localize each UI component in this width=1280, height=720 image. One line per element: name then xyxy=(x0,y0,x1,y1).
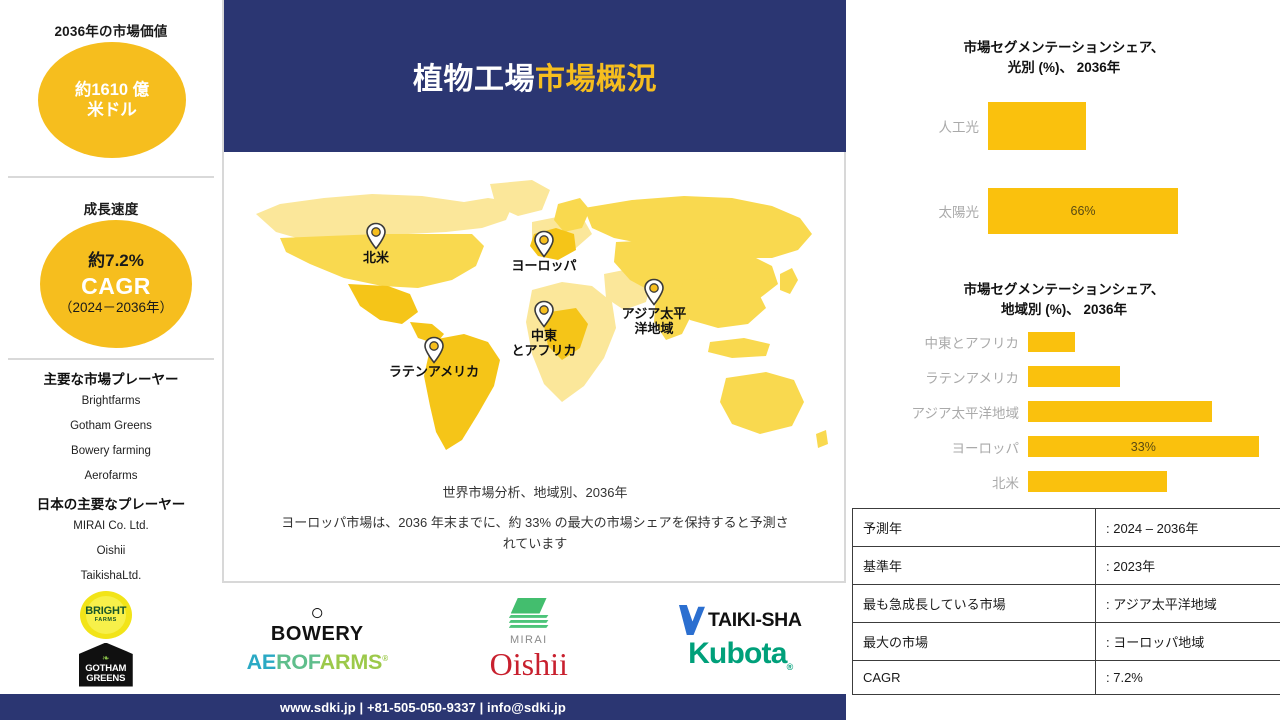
growth-rate-period: （2024－2036年） xyxy=(59,300,173,316)
table-value: : 7.2% xyxy=(1096,661,1280,695)
market-value-line2: 米ドル xyxy=(87,100,137,120)
map-panel: 北米 ラテンアメリカ ヨーロッパ 中東 とアフリカ xyxy=(224,152,846,583)
aerofarms-part1: AE xyxy=(247,650,276,674)
market-value-line1: 約1610 億 xyxy=(75,80,149,100)
bar-row-middle-east-africa[interactable]: 中東とアフリカ xyxy=(854,332,1276,352)
page-title-primary: 植物工場 xyxy=(413,63,535,96)
region-bar-chart: 中東とアフリカ ラテンアメリカ アジア太平洋地域 xyxy=(854,332,1276,492)
map-caption-secondary: ヨーロッパ市場は、2036 年末までに、約 33% の最大の市場シェアを保持する… xyxy=(280,512,790,555)
player-item: Gotham Greens xyxy=(0,420,222,432)
table-key: 最も急成長している市場 xyxy=(853,585,1096,623)
bar-category-label: 人工光 xyxy=(856,116,988,136)
table-key: 予測年 xyxy=(853,509,1096,547)
table-value: : アジア太平洋地域 xyxy=(1096,585,1280,623)
bar-category-label: ラテンアメリカ xyxy=(854,367,1028,387)
jp-player-item: Oishii xyxy=(0,545,222,557)
table-key: 最大の市場 xyxy=(853,623,1096,661)
bar-track xyxy=(1028,366,1276,387)
mirai-mark-icon xyxy=(511,598,547,614)
brightfarms-logo-text: BRIGHT xyxy=(77,605,135,617)
map-pin-asia-pacific[interactable]: アジア太平 洋地域 xyxy=(599,278,709,336)
table-row: 基準年 : 2023年 xyxy=(853,547,1280,585)
bar-row-latin-america[interactable]: ラテンアメリカ xyxy=(854,366,1276,387)
player-item: Brightfarms xyxy=(0,395,222,407)
bowery-mark-icon: ○ xyxy=(271,602,364,623)
oishii-logo: Oishii xyxy=(490,648,568,680)
taiki-sha-logo: TAIKI-SHA xyxy=(679,605,802,635)
logo-cell-3: MIRAI Oishii xyxy=(423,583,635,694)
kubota-logo: Kubota® xyxy=(688,639,792,672)
kubota-logo-text: Kubota xyxy=(688,637,787,670)
table-row: 最大の市場 : ヨーロッパ地域 xyxy=(853,623,1280,661)
page-title: 植物工場市場概況 xyxy=(413,54,657,98)
jp-player-item: TaikishaLtd. xyxy=(0,570,222,582)
map-pin-icon xyxy=(365,222,387,250)
table-value: : 2023年 xyxy=(1096,547,1280,585)
bar-track: 33% xyxy=(1028,436,1276,457)
bar-track xyxy=(1028,332,1276,352)
bar-value-label: 66% xyxy=(1071,204,1096,218)
registered-icon: ® xyxy=(787,662,793,672)
map-pin-label: ラテンアメリカ xyxy=(334,365,534,380)
aerofarms-logo: AEROFARMS® xyxy=(247,650,388,675)
table-key: 基準年 xyxy=(853,547,1096,585)
aerofarms-part2: ROF xyxy=(276,650,320,674)
map-pin-icon xyxy=(533,230,555,258)
left-sidebar: 2036年の市場価値 約1610 億 米ドル 成長速度 約7.2% CAGR （… xyxy=(0,0,224,583)
bar-row-sunlight[interactable]: 太陽光 66% xyxy=(856,188,1276,234)
bar-fill xyxy=(1028,332,1075,352)
growth-rate-bubble: 約7.2% CAGR （2024－2036年） xyxy=(40,220,192,348)
bar-row-artificial-light[interactable]: 人工光 xyxy=(856,102,1276,150)
region-chart-title-line2: 地域別 (%)、 2036年 xyxy=(854,300,1274,320)
table-value: : 2024 – 2036年 xyxy=(1096,509,1280,547)
bar-fill xyxy=(1028,366,1120,387)
infographic-root: 2036年の市場価値 約1610 億 米ドル 成長速度 約7.2% CAGR （… xyxy=(0,0,1280,720)
bar-fill xyxy=(1028,471,1167,492)
aerofarms-part3: ARMS xyxy=(320,650,383,674)
summary-table: 予測年 : 2024 – 2036年 基準年 : 2023年 最も急成長している… xyxy=(852,508,1280,695)
leaf-icon: ❧ xyxy=(102,654,110,663)
table-value: : ヨーロッパ地域 xyxy=(1096,623,1280,661)
logo-cell-2: ○ BOWERY AEROFARMS® xyxy=(212,583,424,694)
bowery-logo-text: BOWERY xyxy=(271,623,364,646)
table-row: CAGR : 7.2% xyxy=(853,661,1280,695)
light-chart-title-line1: 市場セグメンテーションシェア、 xyxy=(854,38,1274,58)
growth-rate-value: 約7.2% xyxy=(88,251,144,272)
bar-value-label: 33% xyxy=(1131,440,1156,454)
table-row: 予測年 : 2024 – 2036年 xyxy=(853,509,1280,547)
mirai-logo: MIRAI xyxy=(499,598,559,644)
map-pin-icon xyxy=(423,336,445,364)
table-row: 最も急成長している市場 : アジア太平洋地域 xyxy=(853,585,1280,623)
bar-track xyxy=(988,102,1276,150)
mirai-bar-2 xyxy=(509,620,549,623)
light-source-bar-chart: 人工光 太陽光 66% xyxy=(856,102,1276,234)
map-pin-label: アジア太平 洋地域 xyxy=(599,307,709,336)
right-panel: 市場セグメンテーションシェア、 光別 (%)、 2036年 人工光 太陽光 66… xyxy=(846,0,1280,720)
divider-1 xyxy=(8,176,214,178)
map-pin-label: 北米 xyxy=(336,251,416,266)
page-title-accent: 市場概況 xyxy=(535,63,657,96)
player-item: Aerofarms xyxy=(0,470,222,482)
map-pin-europe[interactable]: ヨーロッパ xyxy=(489,230,599,274)
brightfarms-logo: BRIGHT FARMS xyxy=(77,591,135,639)
bar-category-label: ヨーロッパ xyxy=(854,437,1028,457)
mirai-bar-1 xyxy=(509,615,549,618)
bar-category-label: 北米 xyxy=(854,472,1028,492)
header-banner: 植物工場市場概況 xyxy=(224,0,846,152)
bar-track: 66% xyxy=(988,188,1276,234)
map-pin-label: ヨーロッパ xyxy=(489,259,599,274)
growth-rate-cagr: CAGR xyxy=(81,272,151,300)
bar-row-europe[interactable]: ヨーロッパ 33% xyxy=(854,436,1276,457)
players-title: 主要な市場プレーヤー xyxy=(0,368,222,388)
jp-player-item: MIRAI Co. Ltd. xyxy=(0,520,222,532)
light-chart-title: 市場セグメンテーションシェア、 光別 (%)、 2036年 xyxy=(854,38,1274,77)
map-pin-icon xyxy=(533,300,555,328)
bar-row-asia-pacific[interactable]: アジア太平洋地域 xyxy=(854,401,1276,422)
bowery-logo: ○ BOWERY xyxy=(271,602,364,646)
taiki-v-mark-icon xyxy=(679,605,705,635)
bar-fill xyxy=(988,102,1086,150)
footer-bar: www.sdki.jp | +81-505-050-9337 | info@sd… xyxy=(0,694,846,720)
logo-cell-1: BRIGHT FARMS ❧ GOTHAM GREENS xyxy=(0,583,212,694)
footer-contact-text[interactable]: www.sdki.jp | +81-505-050-9337 | info@sd… xyxy=(280,700,566,715)
trademark-icon: ® xyxy=(382,654,388,663)
bar-fill: 33% xyxy=(1028,436,1259,457)
jp-players-title: 日本の主要なプレーヤー xyxy=(0,493,222,513)
divider-2 xyxy=(8,358,214,360)
bar-track xyxy=(1028,401,1276,422)
market-value-title: 2036年の市場価値 xyxy=(0,20,222,40)
table-key: CAGR xyxy=(853,661,1096,695)
logo-cell-4: TAIKI-SHA Kubota® xyxy=(635,583,847,694)
players-block: 主要な市場プレーヤー Brightfarms Gotham Greens Bow… xyxy=(0,366,222,582)
market-value-bubble: 約1610 億 米ドル xyxy=(38,42,186,158)
bar-category-label: 中東とアフリカ xyxy=(854,332,1028,352)
gotham-logo-line2: GREENS xyxy=(86,674,125,684)
company-logo-strip: BRIGHT FARMS ❧ GOTHAM GREENS ○ BOWERY AE… xyxy=(0,583,846,694)
growth-rate-title: 成長速度 xyxy=(0,198,222,218)
map-pin-north-america[interactable]: 北米 xyxy=(336,222,416,266)
bar-track xyxy=(1028,471,1276,492)
mirai-bar-3 xyxy=(509,625,549,628)
mirai-logo-text: MIRAI xyxy=(499,634,559,646)
light-chart-title-line2: 光別 (%)、 2036年 xyxy=(854,58,1274,78)
bar-category-label: アジア太平洋地域 xyxy=(854,402,1028,422)
taiki-sha-logo-text: TAIKI-SHA xyxy=(708,609,802,632)
player-item: Bowery farming xyxy=(0,445,222,457)
bar-category-label: 太陽光 xyxy=(856,201,988,221)
bar-row-north-america[interactable]: 北米 xyxy=(854,471,1276,492)
region-chart-title: 市場セグメンテーションシェア、 地域別 (%)、 2036年 xyxy=(854,280,1274,319)
bar-fill xyxy=(1028,401,1212,422)
map-caption-primary: 世界市場分析、地域別、2036年 xyxy=(224,482,846,501)
map-pin-label: 中東 とアフリカ xyxy=(484,329,604,358)
map-pin-middle-east-africa[interactable]: 中東 とアフリカ xyxy=(484,300,604,358)
gotham-greens-logo: ❧ GOTHAM GREENS xyxy=(79,643,133,687)
brightfarms-logo-sub: FARMS xyxy=(77,617,135,623)
bar-fill: 66% xyxy=(988,188,1178,234)
region-chart-title-line1: 市場セグメンテーションシェア、 xyxy=(854,280,1274,300)
map-pin-icon xyxy=(643,278,665,306)
